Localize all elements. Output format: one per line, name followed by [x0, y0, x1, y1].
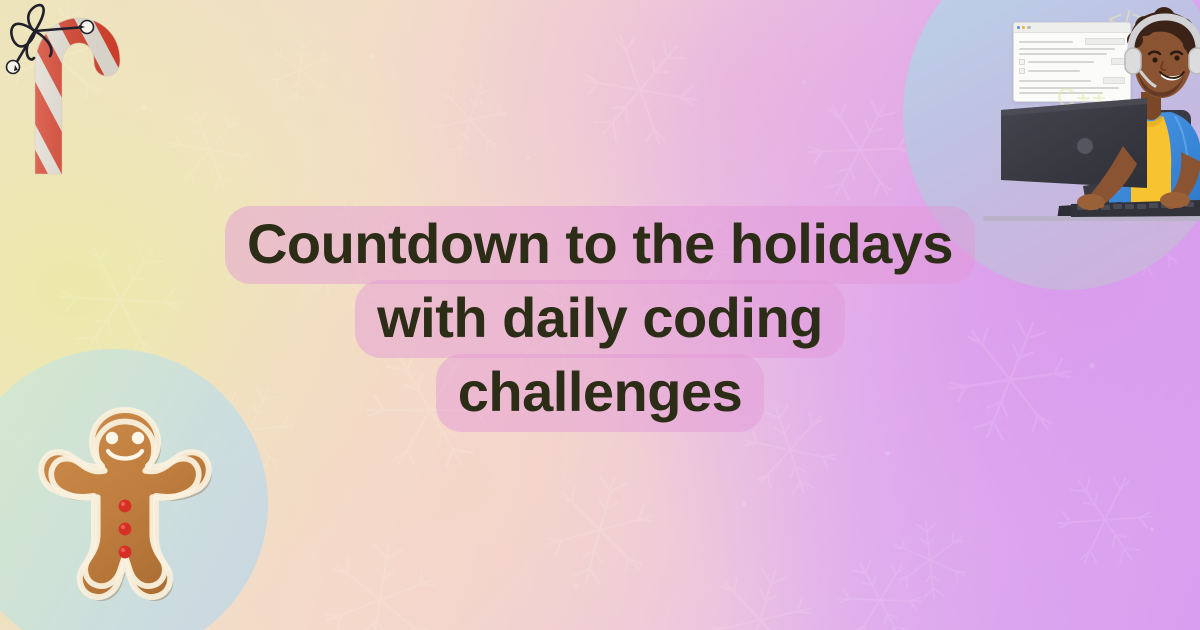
gingerbread-button — [119, 523, 132, 536]
hand-left — [1077, 194, 1105, 210]
gingerbread-man-icon — [30, 398, 220, 614]
developer-at-desk-icon — [975, 6, 1200, 234]
candy-cane-icon — [2, 0, 134, 178]
gingerbread-eye-right — [132, 432, 144, 444]
gingerbread-eye-left — [106, 432, 118, 444]
hand-right — [1160, 192, 1190, 208]
gingerbread-button — [119, 500, 132, 513]
holiday-coding-banner: </> C++ — [0, 0, 1200, 630]
gingerbread-button — [119, 546, 132, 559]
